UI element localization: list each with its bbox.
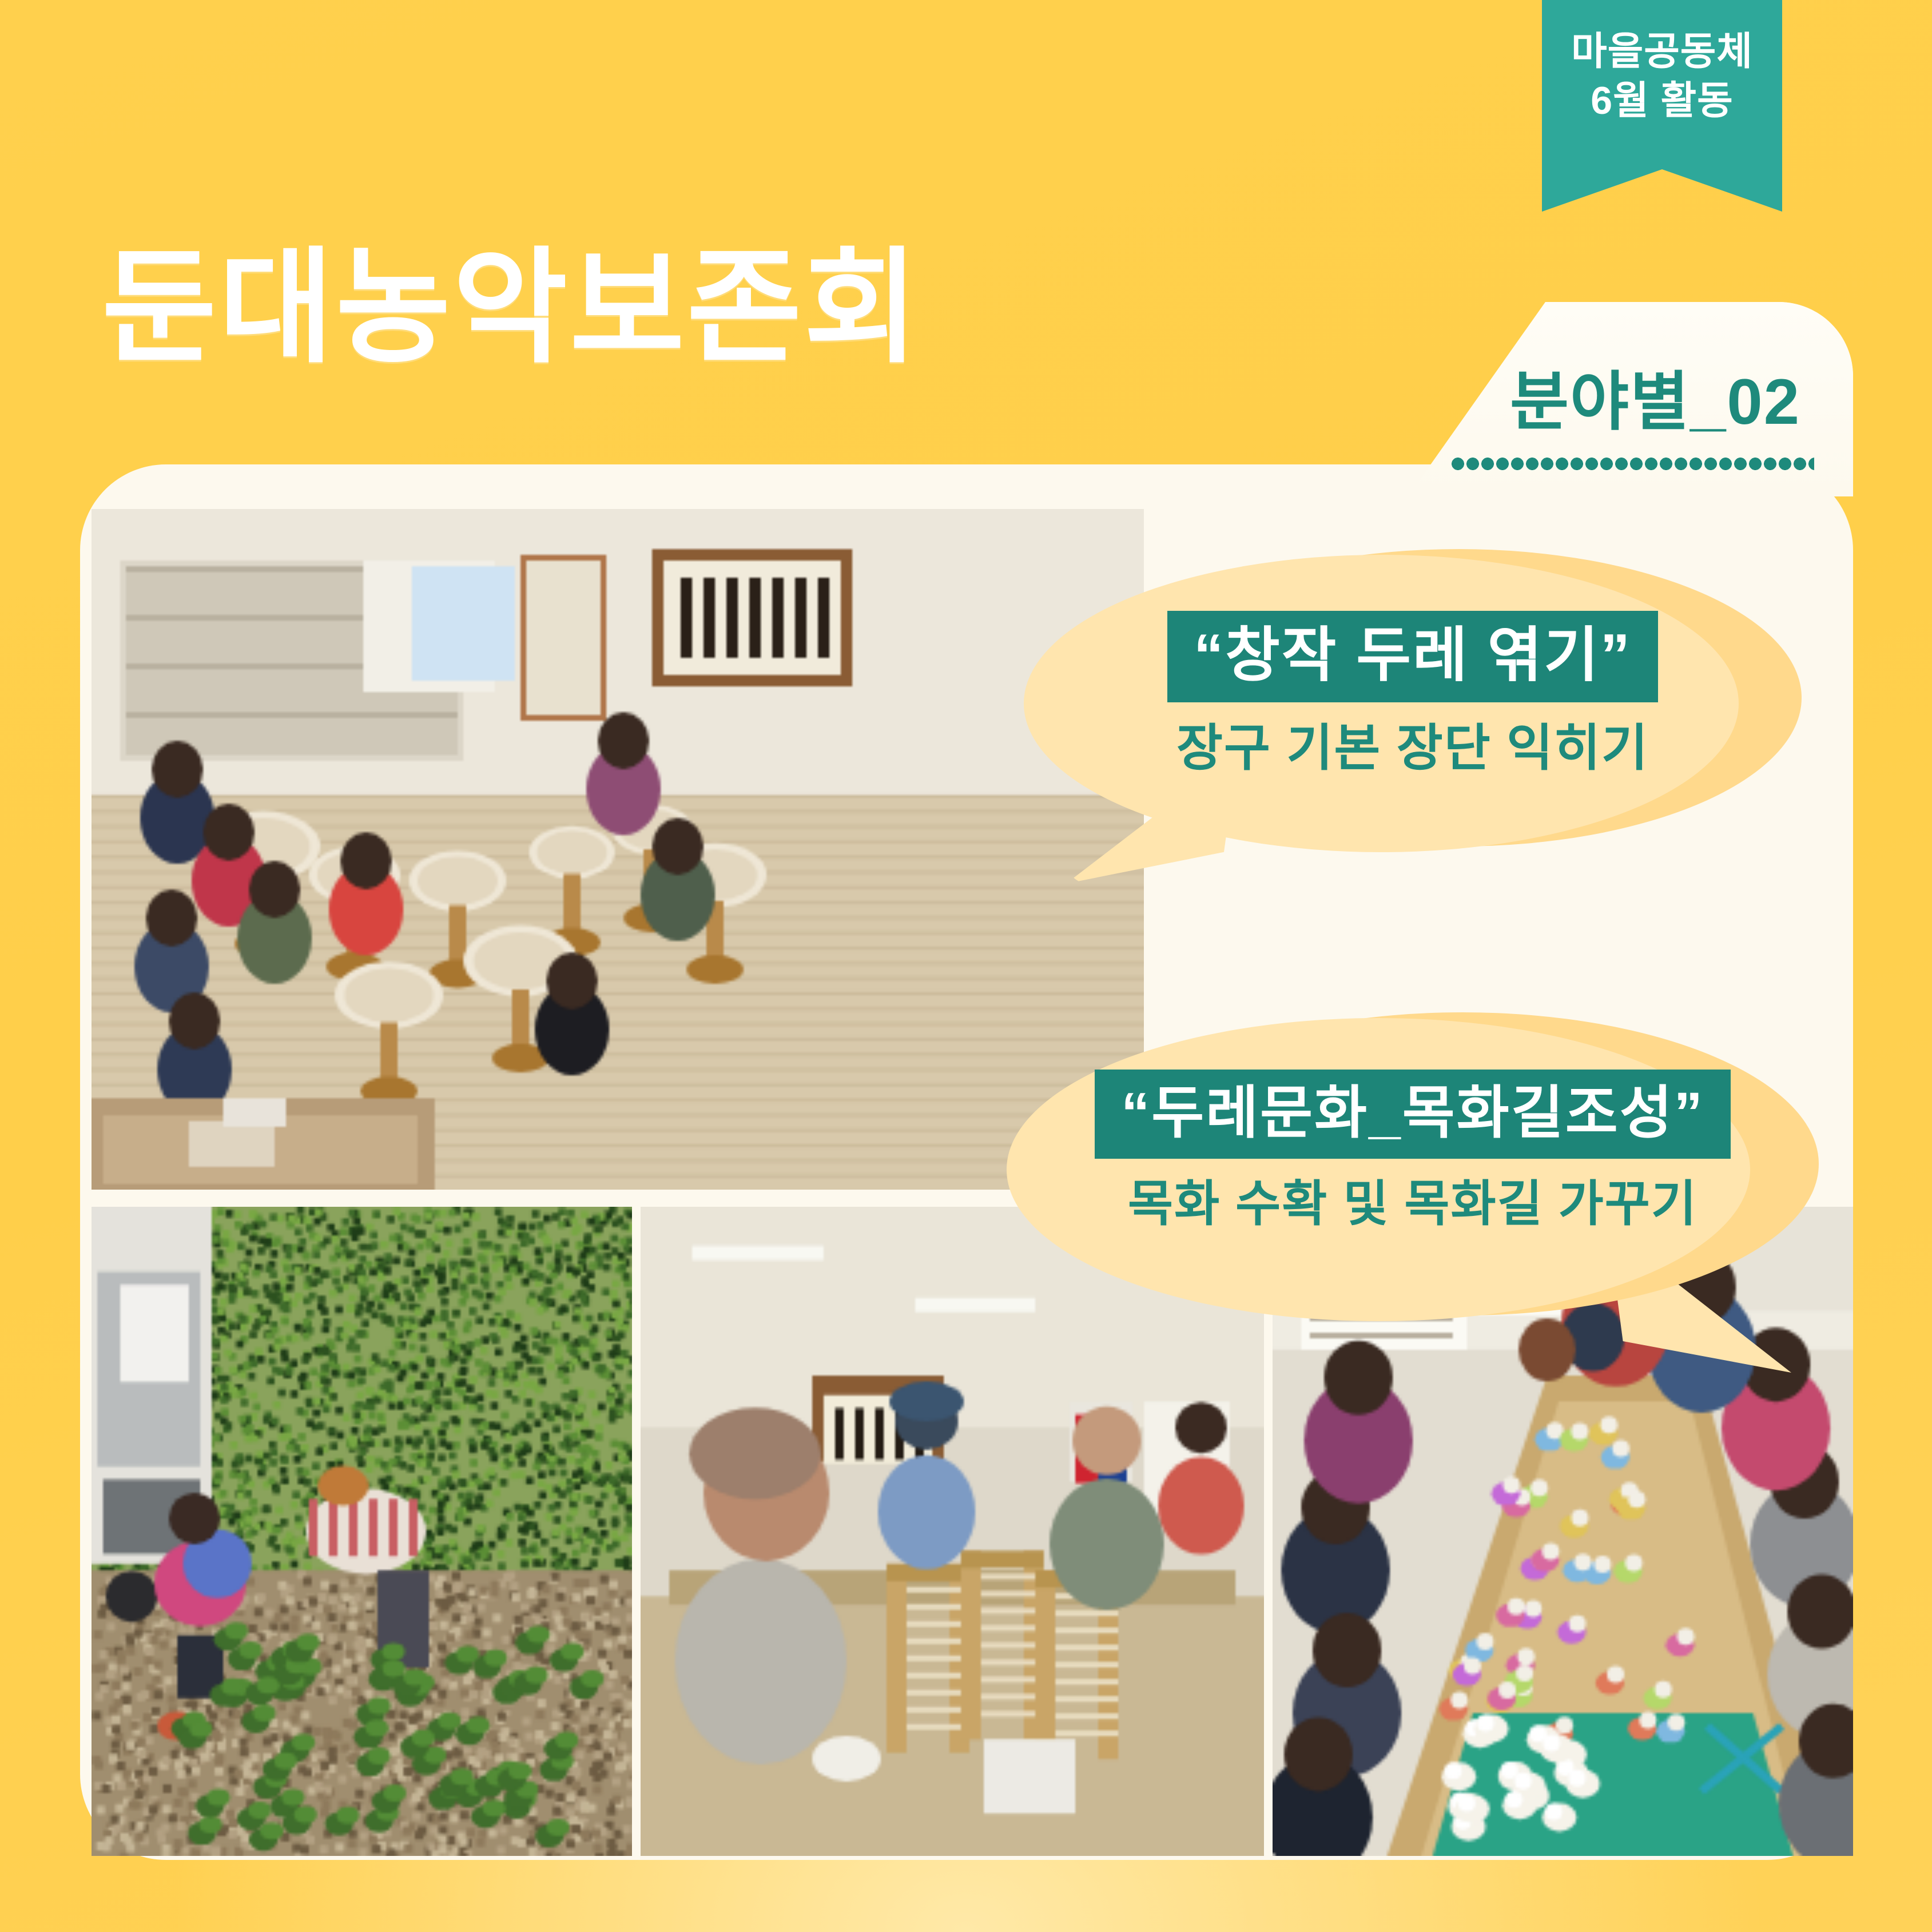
speech-bubble-1: “창작 두레 엮기” 장구 기본 장단 익히기 (1024, 549, 1802, 887)
photo-janggu-practice-room (92, 509, 1144, 1190)
page-title: 둔대농악보존회 (102, 246, 921, 371)
speech-bubble-2: “두레문화_목화길조성” 목화 수확 및 목화길 가꾸기 (1007, 1012, 1819, 1367)
bubble-subtitle: 장구 기본 장단 익히기 (1176, 723, 1649, 773)
ribbon-line-1: 마을공동체 (1571, 30, 1753, 73)
bubble-title: “창작 두레 엮기” (1194, 622, 1632, 689)
bubble-title-box: “창작 두레 엮기” (1167, 611, 1658, 702)
ribbon-line-2: 6월 활동 (1591, 79, 1733, 122)
bubble-title: “두레문화_목화길조성” (1121, 1081, 1704, 1145)
photo-cotton-field-planting (92, 1207, 632, 1856)
bubble-title-box: “두레문화_목화길조성” (1095, 1070, 1731, 1159)
bubble-subtitle: 목화 수확 및 목화길 가꾸기 (1128, 1179, 1698, 1229)
